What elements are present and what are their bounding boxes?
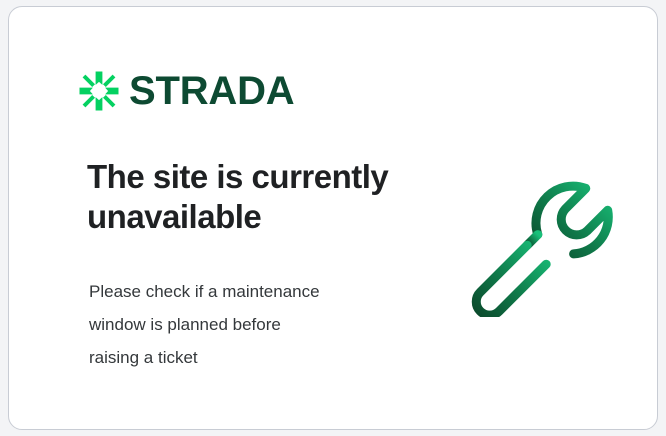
description-line: window is planned before [89, 308, 409, 341]
brand-logo: STRADA [79, 71, 294, 111]
maintenance-card: STRADA The site is currently unavailable… [8, 6, 658, 430]
brand-wordmark: STRADA [129, 71, 294, 111]
page-title: The site is currently unavailable [87, 157, 447, 237]
strada-asterisk-mark-icon [79, 71, 119, 111]
page-surface: STRADA The site is currently unavailable… [0, 0, 666, 436]
wrench-icon [461, 153, 621, 317]
description-line: Please check if a maintenance [89, 275, 409, 308]
card-content: STRADA The site is currently unavailable… [9, 7, 657, 429]
maintenance-description: Please check if a maintenance window is … [89, 275, 409, 374]
description-line: raising a ticket [89, 341, 409, 374]
